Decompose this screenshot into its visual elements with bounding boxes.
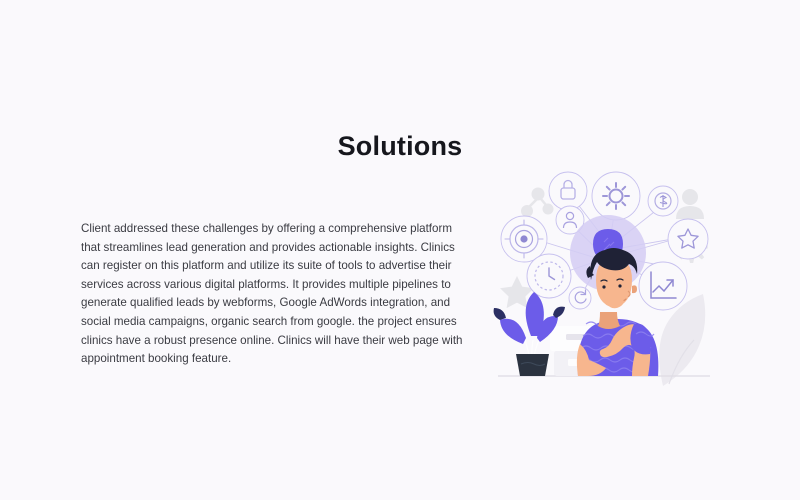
thinking-man	[577, 248, 659, 376]
target-icon	[501, 216, 547, 262]
thinking-man-idea-network-illustration	[488, 158, 720, 388]
clock-icon	[527, 254, 571, 298]
body-paragraph: Client addressed these challenges by off…	[81, 220, 466, 369]
lock-icon	[549, 172, 587, 210]
chart-growth-icon	[639, 262, 687, 310]
gear-icon	[592, 172, 640, 220]
star-icon	[668, 219, 708, 259]
paragraph-text: Client addressed these challenges by off…	[81, 220, 466, 369]
refresh-icon	[569, 287, 591, 309]
user-silhouette-icon	[676, 189, 704, 219]
slide-canvas: Solutions Client addressed these challen…	[0, 0, 800, 500]
money-coin-icon	[648, 186, 678, 216]
